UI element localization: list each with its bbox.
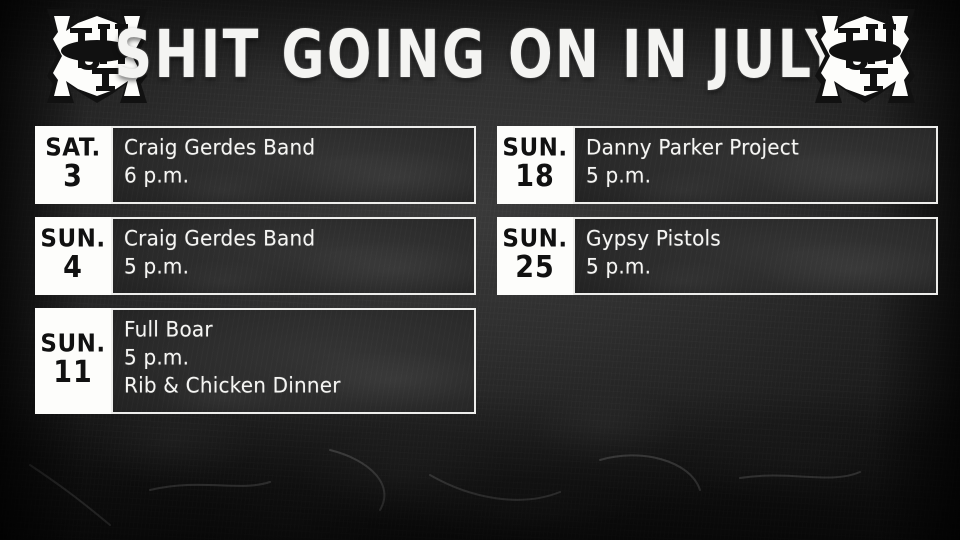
lht-logo-right [812,6,918,106]
event-time: 6 p.m. [124,160,474,190]
event-date-box: SUN. 4 [35,217,111,295]
chalkboard-poster: SHIT GOING ON IN JULY [0,0,960,540]
event-date-box: SUN. 25 [497,217,573,295]
event-weekday: SUN. [40,333,105,357]
poster-header: SHIT GOING ON IN JULY [0,0,960,118]
chalk-smudge-strokes [0,430,960,540]
event-title: Craig Gerdes Band [124,223,474,253]
event-row[interactable]: SAT. 3 Craig Gerdes Band 6 p.m. [35,126,476,204]
events-column-right: SUN. 18 Danny Parker Project 5 p.m. SUN.… [497,126,938,308]
event-day-number: 4 [63,252,83,282]
event-date-box: SAT. 3 [35,126,111,204]
event-title: Full Boar [124,314,474,344]
event-title: Danny Parker Project [586,132,936,162]
event-detail-panel: Craig Gerdes Band 5 p.m. [111,217,476,295]
event-row[interactable]: SUN. 11 Full Boar 5 p.m. Rib & Chicken D… [35,308,476,414]
event-time: 5 p.m. [586,160,936,190]
event-detail-panel: Gypsy Pistols 5 p.m. [573,217,938,295]
event-detail-panel: Craig Gerdes Band 6 p.m. [111,126,476,204]
event-row[interactable]: SUN. 25 Gypsy Pistols 5 p.m. [497,217,938,295]
event-title: Gypsy Pistols [586,223,936,253]
page-title: SHIT GOING ON IN JULY [160,5,800,105]
event-date-box: SUN. 18 [497,126,573,204]
event-detail-panel: Full Boar 5 p.m. Rib & Chicken Dinner [111,308,476,414]
event-weekday: SAT. [45,137,101,161]
event-day-number: 11 [53,357,93,387]
event-day-number: 25 [515,252,555,282]
event-weekday: SUN. [502,137,567,161]
event-note: Rib & Chicken Dinner [124,370,474,400]
event-day-number: 18 [515,161,555,191]
events-column-left: SAT. 3 Craig Gerdes Band 6 p.m. SUN. 4 C… [35,126,476,427]
event-weekday: SUN. [40,228,105,252]
event-time: 5 p.m. [586,251,936,281]
event-time: 5 p.m. [124,251,474,281]
event-row[interactable]: SUN. 18 Danny Parker Project 5 p.m. [497,126,938,204]
event-title: Craig Gerdes Band [124,132,474,162]
event-weekday: SUN. [502,228,567,252]
event-row[interactable]: SUN. 4 Craig Gerdes Band 5 p.m. [35,217,476,295]
event-day-number: 3 [63,161,83,191]
event-detail-panel: Danny Parker Project 5 p.m. [573,126,938,204]
event-date-box: SUN. 11 [35,308,111,414]
event-time: 5 p.m. [124,342,474,372]
